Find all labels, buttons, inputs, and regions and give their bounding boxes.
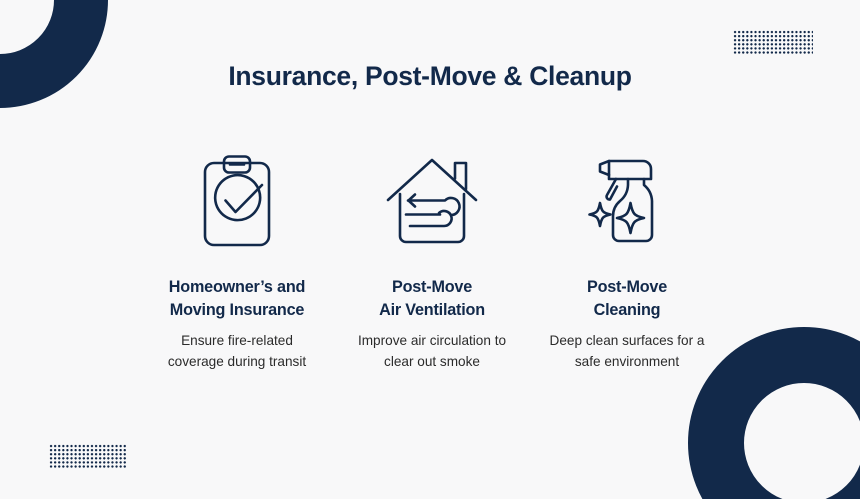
feature-column-insurance: Homeowner’s and Moving Insurance Ensure … [142, 150, 332, 372]
page-title: Insurance, Post-Move & Cleanup [0, 60, 860, 93]
dot-grid-top-right-decoration [733, 30, 813, 55]
feature-title: Post-Move Air Ventilation [379, 276, 485, 322]
feature-title: Homeowner’s and Moving Insurance [169, 276, 305, 322]
feature-description: Deep clean surfaces for a safe environme… [547, 330, 707, 372]
feature-column-ventilation: Post-Move Air Ventilation Improve air ci… [337, 150, 527, 372]
feature-description: Ensure fire-related coverage during tran… [162, 330, 312, 372]
house-air-ventilation-icon [384, 150, 480, 254]
slide-canvas: Insurance, Post-Move & Cleanup Homeowner… [0, 0, 860, 499]
feature-column-cleaning: Post-Move Cleaning Deep clean surfaces f… [532, 150, 722, 372]
feature-title: Post-Move Cleaning [587, 276, 667, 322]
dot-grid-bottom-left-decoration [49, 444, 127, 469]
feature-columns: Homeowner’s and Moving Insurance Ensure … [142, 150, 722, 372]
feature-description: Improve air circulation to clear out smo… [345, 330, 520, 372]
clipboard-check-icon [196, 150, 278, 254]
spray-bottle-sparkle-icon [582, 150, 672, 254]
